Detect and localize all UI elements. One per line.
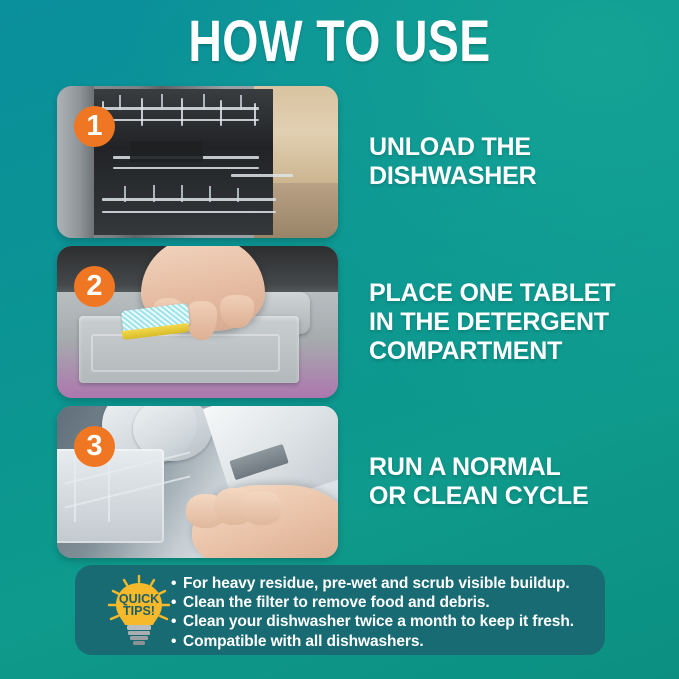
page-title: HOW TO USE: [68, 13, 611, 71]
lightbulb-icon: QUICK TIPS!: [103, 573, 175, 647]
step-3-line-1: RUN A NORMAL: [369, 453, 669, 482]
infographic-page: HOW TO USE: [0, 0, 679, 679]
tip-item: Compatible with all dishwashers.: [171, 632, 595, 651]
step-2-line-1: PLACE ONE TABLET: [369, 279, 669, 308]
step-3-line-2: OR CLEAN CYCLE: [369, 482, 669, 511]
step-3-text: RUN A NORMAL OR CLEAN CYCLE: [369, 406, 669, 558]
step-2-badge: 2: [74, 266, 115, 307]
step-1-line-2: DISHWASHER: [369, 162, 669, 191]
step-row-1: 1 UNLOAD THE DISHWASHER: [0, 86, 679, 238]
tip-item: Clean your dishwasher twice a month to k…: [171, 612, 595, 631]
step-3-image-card: 3: [57, 406, 338, 558]
quick-tips-list: For heavy residue, pre-wet and scrub vis…: [171, 574, 595, 651]
step-row-3: 3 RUN A NORMAL OR CLEAN CYCLE: [0, 406, 679, 558]
step-2-text: PLACE ONE TABLET IN THE DETERGENT COMPAR…: [369, 246, 669, 398]
bulb-label-line-2: TIPS!: [123, 604, 155, 618]
step-1-badge: 1: [74, 106, 115, 147]
step-3-badge: 3: [74, 426, 115, 467]
step-1-text: UNLOAD THE DISHWASHER: [369, 86, 669, 238]
step-1-line-1: UNLOAD THE: [369, 133, 669, 162]
step-2-line-3: COMPARTMENT: [369, 337, 669, 366]
tip-item: Clean the filter to remove food and debr…: [171, 593, 595, 612]
step-1-image-card: 1: [57, 86, 338, 238]
step-row-2: 2 PLACE ONE TABLET IN THE DETERGENT COMP…: [0, 246, 679, 398]
quick-tips-box: QUICK TIPS! For heavy residue, pre-wet a…: [75, 565, 605, 655]
step-2-line-2: IN THE DETERGENT: [369, 308, 669, 337]
tip-item: For heavy residue, pre-wet and scrub vis…: [171, 574, 595, 593]
step-2-image-card: 2: [57, 246, 338, 398]
